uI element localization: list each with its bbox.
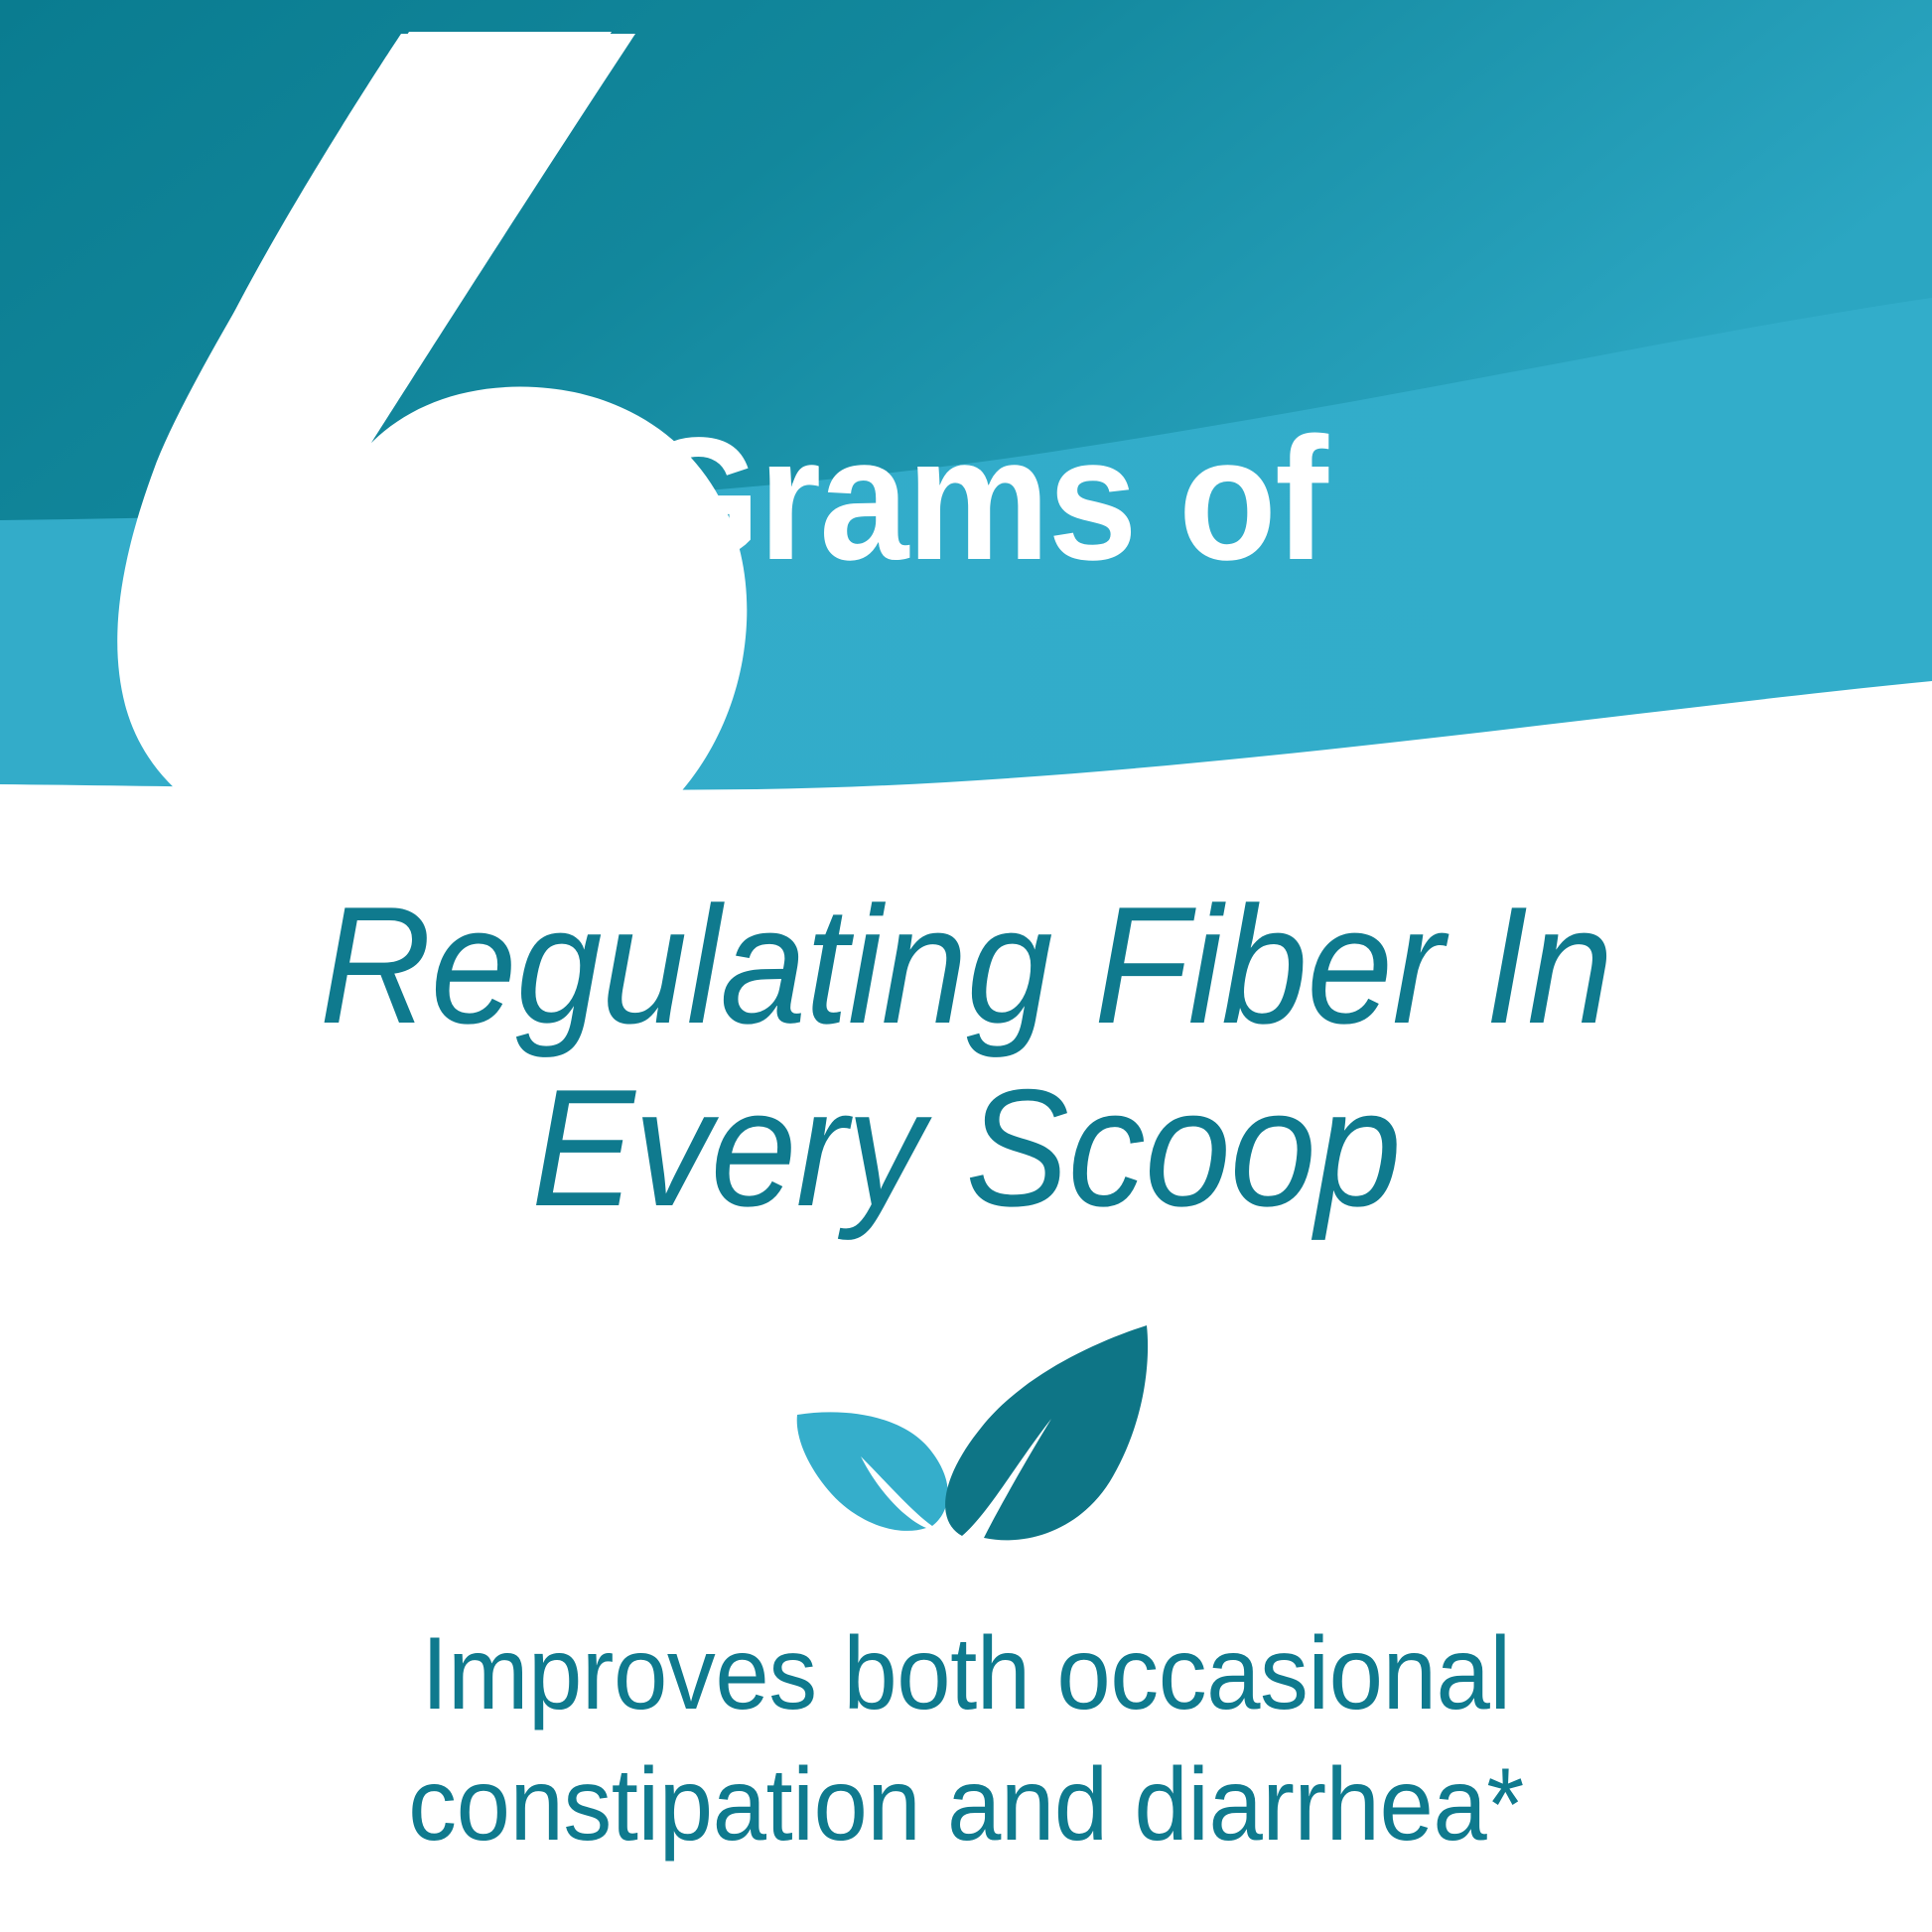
- subtext-line-1: Improves both occasional: [58, 1608, 1873, 1739]
- headline-line-1: Regulating Fiber In: [68, 874, 1864, 1056]
- leaf-large-icon: [945, 1325, 1148, 1540]
- headline-line-2: Every Scoop: [68, 1056, 1864, 1239]
- headline: Regulating Fiber In Every Scoop: [0, 874, 1932, 1239]
- subtext: Improves both occasional constipation an…: [0, 1608, 1932, 1870]
- hero-unit-label: Grams of: [635, 405, 1823, 594]
- fiber-product-poster: Grams of Regulating Fiber In Every Scoop…: [0, 0, 1932, 1932]
- two-leaves-icon: [758, 1315, 1174, 1564]
- subtext-line-2: constipation and diarrhea*: [58, 1739, 1873, 1870]
- leaf-small-icon: [797, 1412, 948, 1531]
